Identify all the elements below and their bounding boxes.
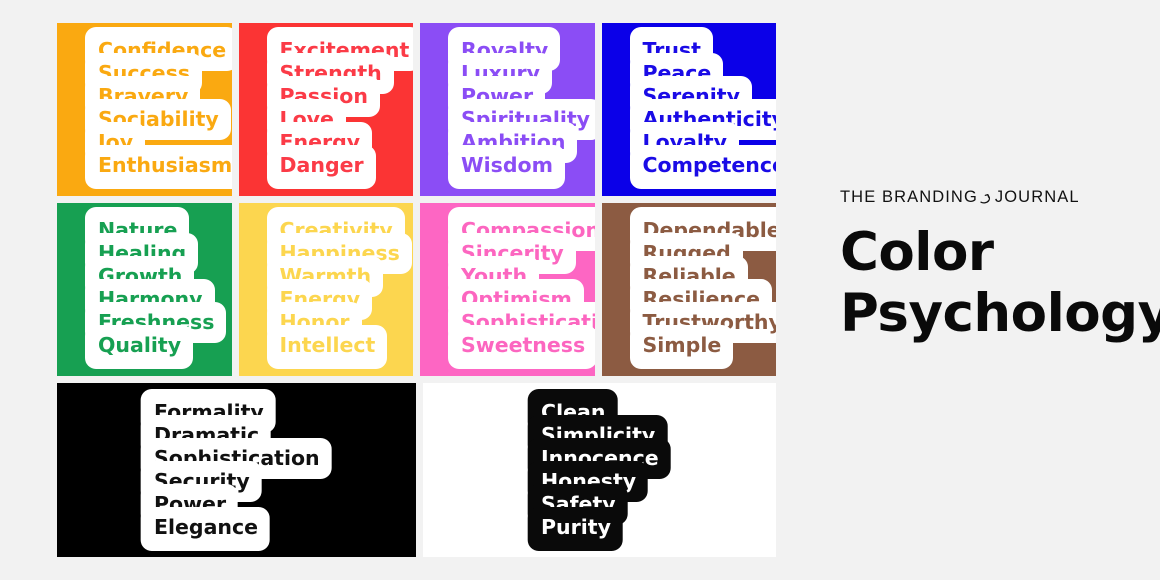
page-title: Color Psychology (840, 224, 1140, 342)
word-blob-pink: CompassionSincerityYouthOptimismSophisti… (448, 219, 595, 357)
word-yellow-5: Intellect (267, 334, 388, 357)
color-psychology-infographic: ConfidenceSuccessBraverySociabilityJoyEn… (0, 0, 1160, 580)
color-card-grid: ConfidenceSuccessBraverySociabilityJoyEn… (57, 23, 776, 557)
word-blob-purple: RoyaltyLuxuryPowerSpiritualityAmbitionWi… (448, 39, 595, 177)
word-blob-red: ExcitementStrengthPassionLoveEnergyDange… (267, 39, 414, 177)
branding-block: THE BRANDING JOURNAL Color Psychology (840, 188, 1140, 342)
word-blob-white: CleanSimplicityInnocenceHonestySafetyPur… (528, 401, 671, 539)
word-green-5: Quality (85, 334, 193, 357)
brand-kicker-after: JOURNAL (995, 188, 1080, 207)
color-card-white: CleanSimplicityInnocenceHonestySafetyPur… (423, 383, 776, 557)
color-card-green: NatureHealingGrowthHarmonyFreshnessQuali… (57, 203, 232, 376)
word-purple-5: Wisdom (448, 154, 565, 177)
word-blob-blue: TrustPeaceSerenityAuthenticityLoyaltyCom… (630, 39, 777, 177)
word-black-5: Elegance (141, 516, 270, 539)
color-card-purple: RoyaltyLuxuryPowerSpiritualityAmbitionWi… (420, 23, 595, 196)
card-row-1: ConfidenceSuccessBraverySociabilityJoyEn… (57, 23, 776, 196)
word-blob-orange: ConfidenceSuccessBraverySociabilityJoyEn… (85, 39, 232, 177)
word-blob-brown: DependableRuggedReliableResilienceTrustw… (630, 219, 777, 357)
word-blob-green: NatureHealingGrowthHarmonyFreshnessQuali… (85, 219, 226, 357)
word-brown-5: Simple (630, 334, 734, 357)
card-row-3: FormalityDramaticSophisticationSecurityP… (57, 383, 776, 557)
color-card-blue: TrustPeaceSerenityAuthenticityLoyaltyCom… (602, 23, 777, 196)
brand-kicker-before: THE BRANDING (840, 188, 978, 207)
word-white-5: Purity (528, 516, 623, 539)
page-title-line-2: Psychology (840, 285, 1140, 342)
word-orange-5: Enthusiasm (85, 154, 232, 177)
color-card-brown: DependableRuggedReliableResilienceTrustw… (602, 203, 777, 376)
color-card-black: FormalityDramaticSophisticationSecurityP… (57, 383, 416, 557)
brand-kicker: THE BRANDING JOURNAL (840, 188, 1140, 207)
page-title-line-1: Color (840, 224, 1140, 281)
curved-arrow-icon (979, 192, 992, 205)
word-blue-5: Competence (630, 154, 777, 177)
word-pink-5: Sweetness (448, 334, 595, 357)
word-blob-black: FormalityDramaticSophisticationSecurityP… (141, 401, 332, 539)
color-card-yellow: CreativityHappinessWarmthEnergyHonorInte… (239, 203, 414, 376)
word-red-5: Danger (267, 154, 376, 177)
word-blob-yellow: CreativityHappinessWarmthEnergyHonorInte… (267, 219, 412, 357)
color-card-pink: CompassionSincerityYouthOptimismSophisti… (420, 203, 595, 376)
color-card-orange: ConfidenceSuccessBraverySociabilityJoyEn… (57, 23, 232, 196)
card-row-2: NatureHealingGrowthHarmonyFreshnessQuali… (57, 203, 776, 376)
color-card-red: ExcitementStrengthPassionLoveEnergyDange… (239, 23, 414, 196)
